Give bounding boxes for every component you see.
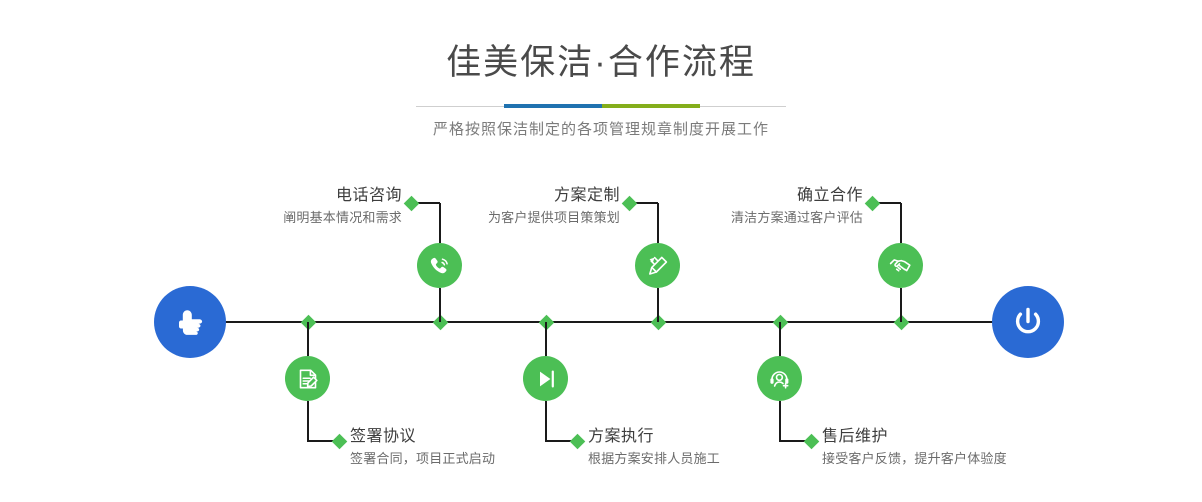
step-title-2: 签署协议 [350, 427, 610, 447]
timeline-end-endpoint[interactable] [992, 286, 1064, 358]
step-label-2: 签署协议 签署合同，项目正式启动 [350, 427, 610, 468]
flowchart-page: 佳美保洁·合作流程 严格按照保洁制定的各项管理规章制度开展工作 [0, 0, 1202, 502]
step-icon-3[interactable] [635, 243, 680, 288]
step-icon-1[interactable] [417, 243, 462, 288]
step-icon-6[interactable] [757, 356, 802, 401]
customer-service-icon [767, 366, 793, 392]
step-desc-4: 根据方案安排人员施工 [588, 450, 848, 468]
connector-vertical [900, 203, 902, 243]
play-execute-icon [533, 366, 559, 392]
step-desc-1: 阐明基本情况和需求 [150, 209, 402, 227]
step-label-5: 确立合作 清洁方案通过客户评估 [610, 186, 863, 227]
step-desc-5: 清洁方案通过客户评估 [610, 209, 863, 227]
step-title-5: 确立合作 [610, 186, 863, 206]
step-title-1: 电话咨询 [150, 186, 402, 206]
step-desc-6: 接受客户反馈，提升客户体验度 [822, 450, 1102, 468]
power-icon [1008, 302, 1048, 342]
connector-vertical [545, 322, 547, 356]
step-desc-3: 为客户提供项目策策划 [368, 209, 620, 227]
phone-call-icon [427, 253, 453, 279]
step-title-3: 方案定制 [368, 186, 620, 206]
step-desc-2: 签署合同，项目正式启动 [350, 450, 610, 468]
timeline-axis [155, 321, 1060, 323]
step-label-3: 方案定制 为客户提供项目策策划 [368, 186, 620, 227]
connector-vertical [307, 322, 309, 356]
connector-vertical [779, 401, 781, 441]
handshake-icon [888, 253, 914, 279]
connector-vertical [900, 288, 902, 322]
step-icon-5[interactable] [878, 243, 923, 288]
pointing-hand-icon [170, 302, 210, 342]
step-title-6: 售后维护 [822, 427, 1102, 447]
connector-vertical [439, 288, 441, 322]
connector-vertical [545, 401, 547, 441]
connector-vertical [657, 288, 659, 322]
step-icon-4[interactable] [523, 356, 568, 401]
step-label-6: 售后维护 接受客户反馈，提升客户体验度 [822, 427, 1102, 468]
connector-vertical [307, 401, 309, 441]
step-label-1: 电话咨询 阐明基本情况和需求 [150, 186, 402, 227]
label-marker-diamond [865, 195, 881, 211]
pencil-design-icon [645, 253, 671, 279]
document-edit-icon [295, 366, 321, 392]
process-timeline: 电话咨询 阐明基本情况和需求 签署协议 签署合同，项目正式启动 [0, 0, 1202, 502]
label-marker-diamond [332, 433, 348, 449]
connector-vertical [779, 322, 781, 356]
step-icon-2[interactable] [285, 356, 330, 401]
timeline-start-endpoint[interactable] [154, 286, 226, 358]
